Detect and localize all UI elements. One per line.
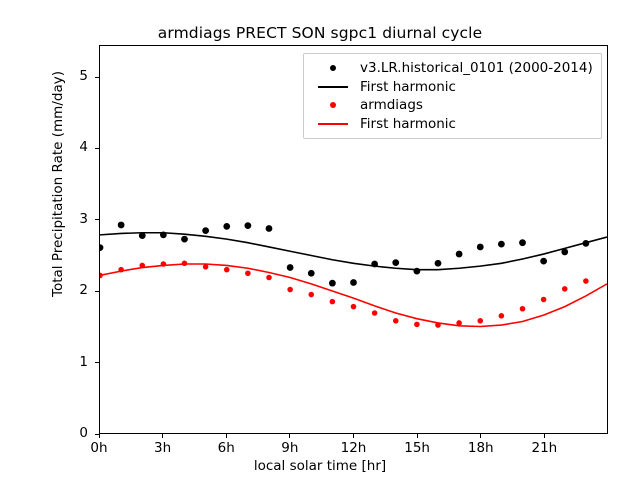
series-line xyxy=(100,264,607,326)
x-tick-label: 9h xyxy=(268,440,312,456)
legend-dot-marker xyxy=(310,65,356,71)
legend-swatch xyxy=(330,65,336,71)
x-tick-label: 0h xyxy=(77,440,121,456)
x-tick-mark xyxy=(226,434,227,438)
chart-legend: v3.LR.historical_0101 (2000-2014)First h… xyxy=(303,53,602,139)
legend-item: First harmonic xyxy=(310,78,593,97)
data-point xyxy=(583,278,589,284)
x-tick-mark xyxy=(417,434,418,438)
data-point xyxy=(562,286,568,292)
legend-swatch xyxy=(330,102,336,108)
data-point xyxy=(372,310,378,316)
data-point xyxy=(266,275,272,281)
x-tick-mark xyxy=(353,434,354,438)
legend-line-marker xyxy=(310,86,356,88)
legend-line-marker xyxy=(310,123,356,125)
y-tick-label: 2 xyxy=(48,282,88,298)
legend-label: armdiags xyxy=(356,97,423,113)
data-point xyxy=(118,222,125,229)
legend-label: First harmonic xyxy=(356,79,456,95)
data-point xyxy=(393,318,399,324)
data-point xyxy=(540,258,547,265)
data-point xyxy=(181,236,188,243)
data-point xyxy=(244,222,251,229)
data-point xyxy=(202,227,209,234)
x-tick-mark xyxy=(162,434,163,438)
legend-item: v3.LR.historical_0101 (2000-2014) xyxy=(310,59,593,78)
data-point xyxy=(498,241,505,248)
data-point xyxy=(350,279,357,286)
data-point xyxy=(329,280,336,287)
legend-swatch xyxy=(318,86,348,88)
data-point xyxy=(519,239,526,246)
data-point xyxy=(224,267,230,273)
data-point xyxy=(308,270,315,277)
x-tick-mark xyxy=(289,434,290,438)
data-point xyxy=(245,270,251,276)
x-tick-label: 18h xyxy=(459,440,503,456)
data-point xyxy=(435,260,442,267)
x-tick-label: 21h xyxy=(522,440,566,456)
data-point xyxy=(520,306,526,312)
y-tick-label: 0 xyxy=(48,425,88,441)
data-point xyxy=(266,225,273,232)
y-tick-label: 4 xyxy=(48,139,88,155)
data-point xyxy=(541,297,547,303)
data-point xyxy=(100,244,103,251)
x-tick-mark xyxy=(480,434,481,438)
y-tick-label: 1 xyxy=(48,354,88,370)
data-point xyxy=(223,223,230,230)
figure: armdiags PRECT SON sgpc1 diurnal cycle T… xyxy=(0,0,640,480)
x-tick-label: 12h xyxy=(332,440,376,456)
chart-title: armdiags PRECT SON sgpc1 diurnal cycle xyxy=(0,24,640,42)
data-point xyxy=(308,292,314,298)
data-point xyxy=(477,318,483,324)
x-tick-label: 15h xyxy=(395,440,439,456)
data-point xyxy=(477,244,484,251)
y-tick-label: 3 xyxy=(48,211,88,227)
data-point xyxy=(287,264,294,271)
y-axis-label: Total Precipitation Rate (mm/day) xyxy=(50,0,66,384)
x-tick-label: 6h xyxy=(204,440,248,456)
legend-item: armdiags xyxy=(310,96,593,115)
legend-dot-marker xyxy=(310,102,356,108)
series-points xyxy=(100,222,589,287)
data-point xyxy=(499,313,505,319)
data-point xyxy=(392,259,399,266)
legend-swatch xyxy=(318,123,348,125)
legend-item: First harmonic xyxy=(310,115,593,134)
data-point xyxy=(351,304,357,310)
data-point xyxy=(414,322,420,328)
legend-label: First harmonic xyxy=(356,116,456,132)
x-tick-mark xyxy=(99,434,100,438)
data-point xyxy=(330,299,336,305)
x-tick-label: 3h xyxy=(141,440,185,456)
legend-label: v3.LR.historical_0101 (2000-2014) xyxy=(356,60,593,76)
y-tick-label: 5 xyxy=(48,68,88,84)
x-tick-mark xyxy=(544,434,545,438)
data-point xyxy=(287,287,293,293)
data-point xyxy=(456,251,463,258)
x-axis-label: local solar time [hr] xyxy=(0,458,640,474)
